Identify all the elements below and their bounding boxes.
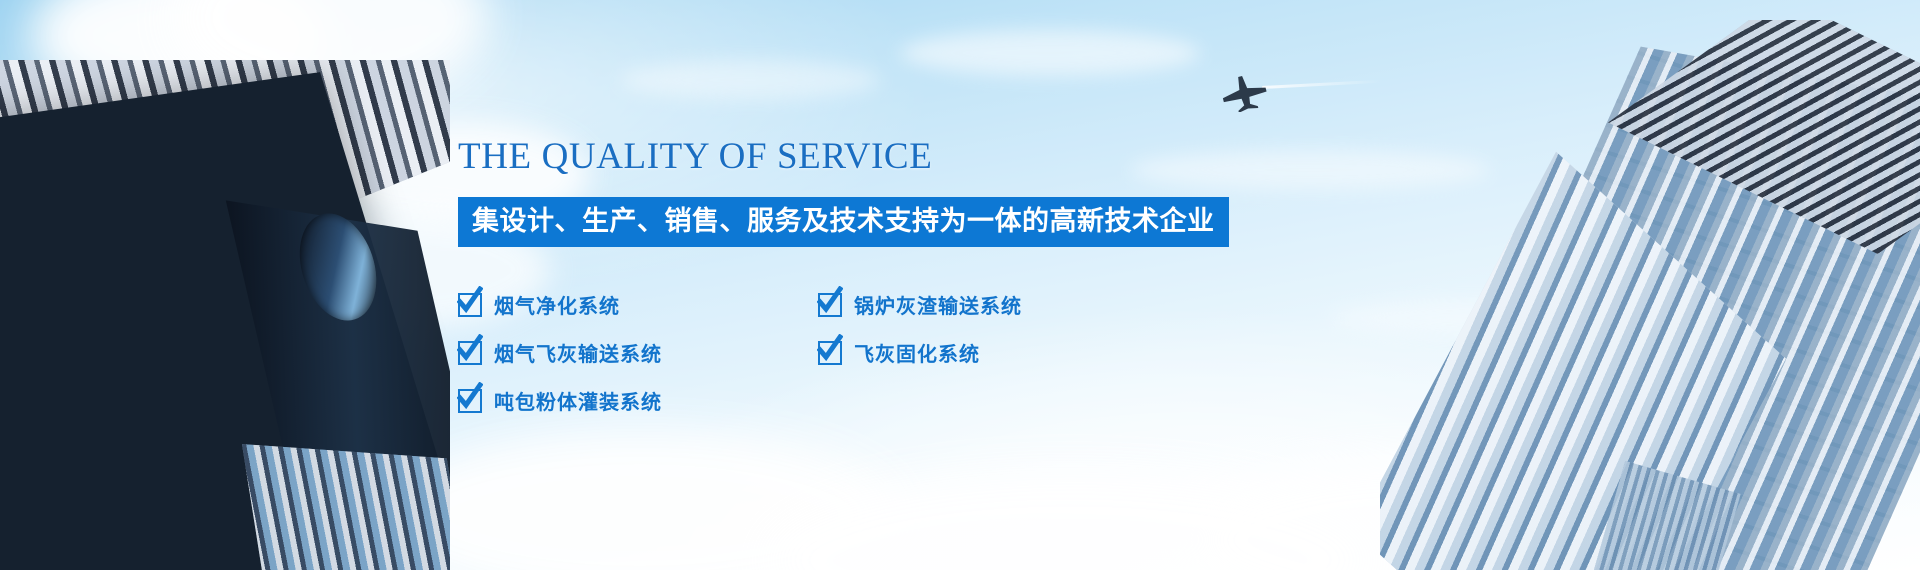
list-item-label: 烟气净化系统 xyxy=(494,290,620,319)
hero-banner: THE QUALITY OF SERVICE 集设计、生产、销售、服务及技术支持… xyxy=(0,0,1920,570)
list-item[interactable]: 锅炉灰渣输送系统 xyxy=(818,283,1178,327)
checkbox-checked-icon xyxy=(458,341,482,365)
list-item-label: 飞灰固化系统 xyxy=(854,338,980,367)
checkbox-checked-icon xyxy=(818,293,842,317)
left-skyscraper-image xyxy=(0,60,450,570)
hero-content: THE QUALITY OF SERVICE 集设计、生产、销售、服务及技术支持… xyxy=(458,138,1458,427)
list-item-label: 烟气飞灰输送系统 xyxy=(494,338,662,367)
cloud-decoration xyxy=(900,30,1200,76)
cloud-decoration xyxy=(760,470,1380,570)
cloud-decoration xyxy=(380,430,900,570)
list-item[interactable]: 飞灰固化系统 xyxy=(818,331,1178,375)
checkbox-checked-icon xyxy=(818,341,842,365)
checkbox-checked-icon xyxy=(458,389,482,413)
right-tower-image xyxy=(1380,20,1920,570)
page-title: THE QUALITY OF SERVICE xyxy=(458,138,1458,177)
feature-list: 烟气净化系统 锅炉灰渣输送系统 烟气飞灰输送系统 飞灰固化系统 xyxy=(458,283,1178,427)
list-item[interactable]: 吨包粉体灌装系统 xyxy=(458,379,818,423)
checkbox-checked-icon xyxy=(458,293,482,317)
list-item[interactable]: 烟气净化系统 xyxy=(458,283,818,327)
airplane-icon xyxy=(1215,72,1273,112)
list-item-label: 锅炉灰渣输送系统 xyxy=(854,290,1022,319)
list-item[interactable]: 烟气飞灰输送系统 xyxy=(458,331,818,375)
list-item-label: 吨包粉体灌装系统 xyxy=(494,386,662,415)
cloud-decoration xyxy=(620,60,880,100)
contrail-decoration xyxy=(1262,80,1382,89)
hero-subtitle-banner: 集设计、生产、销售、服务及技术支持为一体的高新技术企业 xyxy=(458,197,1229,247)
background-building xyxy=(242,444,450,570)
